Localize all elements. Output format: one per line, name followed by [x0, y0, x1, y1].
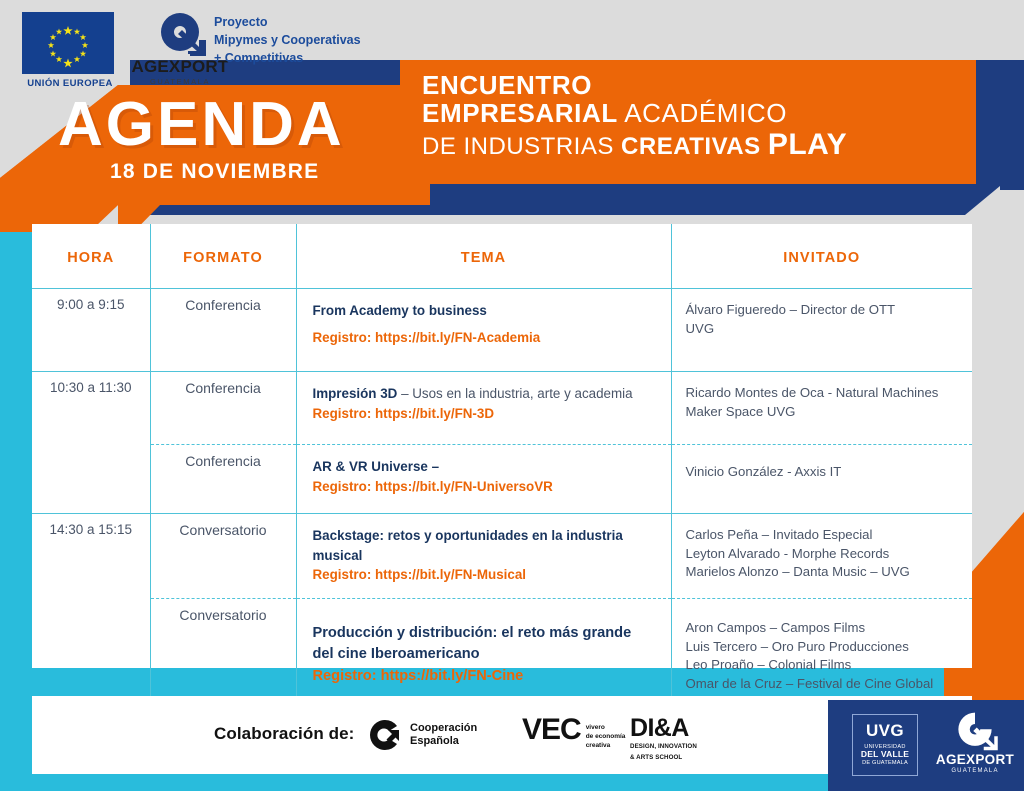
- table-row: 9:00 a 9:15 Conferencia From Academy to …: [32, 289, 972, 372]
- table-row: Conferencia AR & VR Universe – Registro:…: [32, 445, 972, 514]
- cooperacion-line-1: Cooperación: [410, 722, 477, 735]
- dia-logo: DI&A DESIGN, INNOVATION & ARTS SCHOOL: [630, 716, 697, 763]
- uvg-wordmark: UVG: [853, 722, 917, 739]
- invitado-line: Ricardo Montes de Oca - Natural Machines: [686, 384, 963, 403]
- table-header-row: HORA FORMATO TEMA INVITADO: [32, 224, 972, 289]
- table-row: 14:30 a 15:15 Conversatorio Backstage: r…: [32, 514, 972, 599]
- column-header-tema: TEMA: [296, 224, 671, 289]
- cell-formato: Conferencia: [150, 445, 296, 514]
- invitado-line: Leo Proaño – Colonial Films: [686, 656, 963, 675]
- tema-title: Producción y distribución: el reto más g…: [313, 623, 655, 666]
- banner-play-word: PLAY: [768, 128, 847, 161]
- column-header-formato: FORMATO: [150, 224, 296, 289]
- cooperacion-text: Cooperación Española: [410, 722, 477, 748]
- tema-registro-link[interactable]: Registro: https://bit.ly/FN-Cine: [313, 666, 655, 687]
- agexport-g-icon: [152, 10, 208, 58]
- column-header-hora: HORA: [32, 224, 150, 289]
- collaboration-label: Colaboración de:: [214, 724, 354, 744]
- column-header-invitado: INVITADO: [671, 224, 972, 289]
- cell-invitado: Vinicio González - Axxis IT: [671, 445, 972, 514]
- poster-canvas: UNIÓN EUROPEA AGEXPORT GUATEMALA Proyect…: [0, 0, 1024, 791]
- bottom-right-logo-box: UVG UNIVERSIDAD DEL VALLE DE GUATEMALA A…: [828, 700, 1024, 791]
- cell-invitado: Carlos Peña – Invitado Especial Leyton A…: [671, 514, 972, 599]
- tema-title: From Academy to business: [313, 301, 655, 321]
- agenda-table-card: HORA FORMATO TEMA INVITADO 9:00 a 9:15 C…: [32, 224, 972, 668]
- banner-line-1: ENCUENTRO: [422, 72, 976, 99]
- invitado-line: Omar de la Cruz – Festival de Cine Globa…: [686, 675, 963, 694]
- cell-hora: 9:00 a 9:15: [32, 289, 150, 372]
- invitado-line: Aron Campos – Campos Films: [686, 619, 963, 638]
- cell-hora: 10:30 a 11:30: [32, 372, 150, 514]
- cell-tema: From Academy to business Registro: https…: [296, 289, 671, 372]
- banner-line-2-bold: EMPRESARIAL: [422, 98, 618, 128]
- vec-tagline-3: creativa: [586, 742, 626, 751]
- tema-title: Impresión 3D: [313, 386, 398, 401]
- invitado-line: UVG: [686, 320, 963, 339]
- uvg-logo: UVG UNIVERSIDAD DEL VALLE DE GUATEMALA: [852, 714, 918, 776]
- cell-formato: Conversatorio: [150, 514, 296, 599]
- agenda-title: AGENDA: [58, 94, 345, 156]
- dia-tagline-1: DESIGN, INNOVATION: [630, 743, 697, 752]
- banner-line-3-bold: CREATIVAS: [621, 133, 761, 160]
- cell-tema: Backstage: retos y oportunidades en la i…: [296, 514, 671, 599]
- banner-line-3-thin: DE INDUSTRIAS: [422, 133, 614, 160]
- agexport-footer-logo: AGEXPORT GUATEMALA: [932, 710, 1018, 774]
- tema-registro-link[interactable]: Registro: https://bit.ly/FN-Musical: [313, 565, 655, 585]
- uvg-line-2: DEL VALLE: [853, 750, 917, 760]
- agexport-sub: GUATEMALA: [126, 77, 234, 86]
- tema-subtitle: – Usos en la industria, arte y academia: [401, 386, 632, 401]
- invitado-line: Maker Space UVG: [686, 403, 963, 422]
- tema-registro-link[interactable]: Registro: https://bit.ly/FN-3D: [313, 406, 495, 421]
- project-line-2: Mipymes y Cooperativas: [214, 32, 361, 50]
- project-line-1: Proyecto: [214, 14, 361, 32]
- project-line-3: + Competitivas: [214, 50, 361, 68]
- agexport-footer-wordmark: AGEXPORT: [932, 752, 1018, 767]
- cell-invitado: Álvaro Figueredo – Director de OTT UVG: [671, 289, 972, 372]
- vec-tagline-2: de economía: [586, 733, 626, 742]
- table-row: 10:30 a 11:30 Conferencia Impresión 3D –…: [32, 372, 972, 445]
- uvg-line-3: DE GUATEMALA: [853, 760, 917, 766]
- cooperacion-espanola-icon: [368, 718, 402, 752]
- eu-logo: UNIÓN EUROPEA: [22, 12, 118, 89]
- invitado-line: Luis Tercero – Oro Puro Producciones: [686, 638, 963, 657]
- banner-line-2: EMPRESARIAL ACADÉMICO: [422, 99, 976, 128]
- invitado-line: Marielos Alonzo – Danta Music – UVG: [686, 563, 963, 582]
- agenda-table: HORA FORMATO TEMA INVITADO 9:00 a 9:15 C…: [32, 224, 972, 741]
- dia-tagline-2: & ARTS SCHOOL: [630, 754, 697, 763]
- cell-formato: Conferencia: [150, 289, 296, 372]
- agexport-g-icon: [950, 710, 1000, 752]
- dia-wordmark: DI&A: [630, 716, 697, 741]
- vec-tagline-1: vivero: [586, 724, 626, 733]
- invitado-line: Carlos Peña – Invitado Especial: [686, 526, 963, 545]
- invitado-line: Álvaro Figueredo – Director de OTT: [686, 301, 963, 320]
- tema-title: AR & VR Universe –: [313, 457, 655, 477]
- cooperacion-espanola-logo: Cooperación Española: [368, 718, 477, 752]
- agexport-footer-sub: GUATEMALA: [932, 768, 1018, 774]
- banner-line-3: DE INDUSTRIAS CREATIVAS PLAY: [422, 128, 976, 163]
- agenda-date: 18 DE NOVIEMBRE: [110, 160, 319, 184]
- cell-tema: Impresión 3D – Usos en la industria, art…: [296, 372, 671, 445]
- cooperacion-line-2: Española: [410, 735, 477, 748]
- eu-caption: UNIÓN EUROPEA: [22, 78, 118, 89]
- tema-registro-link[interactable]: Registro: https://bit.ly/FN-Academia: [313, 328, 655, 348]
- eu-flag-icon: [22, 12, 114, 74]
- tema-registro-link[interactable]: Registro: https://bit.ly/FN-UniversoVR: [313, 477, 655, 497]
- vec-wordmark: VEC: [522, 716, 581, 745]
- cell-formato: Conferencia: [150, 372, 296, 445]
- vec-tagline: vivero de economía creativa: [586, 724, 626, 750]
- event-title-banner: ENCUENTRO EMPRESARIAL ACADÉMICO DE INDUS…: [400, 60, 976, 184]
- invitado-line: Leyton Alvarado - Morphe Records: [686, 545, 963, 564]
- tema-title: Backstage: retos y oportunidades en la i…: [313, 526, 655, 565]
- project-name: Proyecto Mipymes y Cooperativas + Compet…: [214, 14, 361, 67]
- invitado-line: Vinicio González - Axxis IT: [686, 463, 963, 482]
- vec-logo: VEC vivero de economía creativa: [522, 716, 625, 750]
- cell-invitado: Ricardo Montes de Oca - Natural Machines…: [671, 372, 972, 445]
- banner-line-2-thin: ACADÉMICO: [624, 98, 787, 128]
- cell-tema: AR & VR Universe – Registro: https://bit…: [296, 445, 671, 514]
